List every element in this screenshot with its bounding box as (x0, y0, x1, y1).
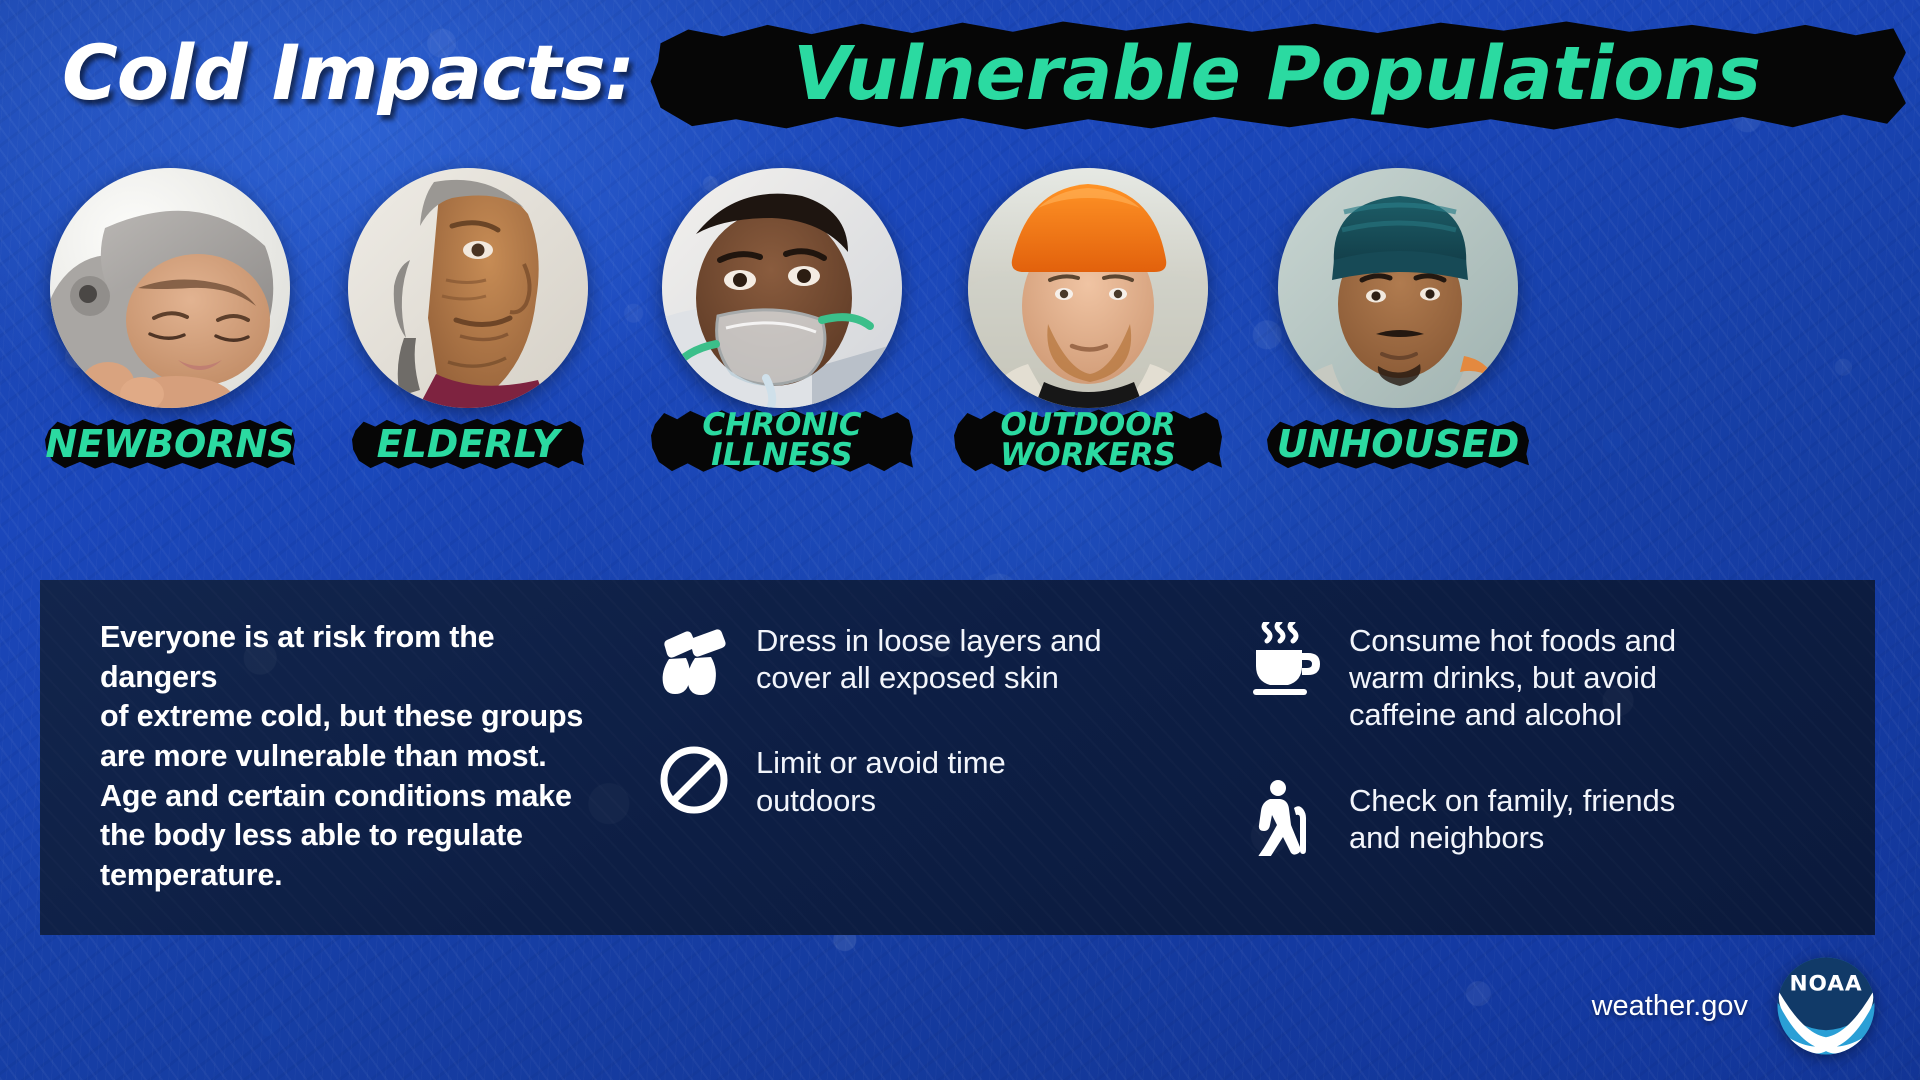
weather-gov-url[interactable]: weather.gov (1592, 990, 1748, 1023)
noaa-logo: NOAA (1774, 954, 1878, 1058)
infographic-poster: Cold Impacts: Vulnerable Populations (0, 0, 1920, 1080)
tip-text-hot-foods: Consume hot foods and warm drinks, but a… (1349, 620, 1676, 734)
population-item-outdoor-workers: OUTDOOR WORKERS (968, 168, 1208, 408)
page-title-accent: Vulnerable Populations (648, 18, 1906, 133)
label-chip-unhoused: UNHOUSED (1267, 416, 1529, 472)
portrait-elderly (348, 168, 588, 408)
safety-info-panel: Everyone is at risk from the dangers of … (40, 580, 1875, 935)
label-chip-newborns: NEWBORNS (45, 416, 295, 472)
footer: weather.gov NOAA (1592, 954, 1878, 1058)
title-banner: Vulnerable Populations (648, 18, 1906, 133)
tip-check-on-others: Check on family, friends and neighbors (1249, 780, 1845, 856)
chronic-illness-photo-illustration (662, 168, 902, 408)
population-label-chronic-illness: CHRONIC ILLNESS (702, 411, 861, 471)
label-chip-outdoor-workers: OUTDOOR WORKERS (954, 406, 1222, 476)
header: Cold Impacts: Vulnerable Populations (0, 0, 1920, 150)
population-label-elderly: ELDERLY (377, 426, 560, 462)
tip-limit-outdoors: Limit or avoid time outdoors (656, 742, 1205, 818)
hot-drink-cup-icon (1249, 622, 1325, 698)
tip-text-dress-layers: Dress in loose layers and cover all expo… (756, 620, 1102, 696)
portrait-outdoor-workers (968, 168, 1208, 408)
population-label-outdoor-workers: OUTDOOR WORKERS (1000, 411, 1176, 471)
population-label-unhoused: UNHOUSED (1277, 426, 1520, 462)
portrait-chronic-illness (662, 168, 902, 408)
mittens-icon (656, 620, 732, 696)
prohibition-icon (656, 742, 732, 818)
tips-column-left: Dress in loose layers and cover all expo… (610, 614, 1205, 907)
tip-dress-layers: Dress in loose layers and cover all expo… (656, 620, 1205, 696)
tip-hot-foods: Consume hot foods and warm drinks, but a… (1249, 620, 1845, 734)
portrait-unhoused (1278, 168, 1518, 408)
elderly-photo-illustration (348, 168, 588, 408)
population-item-unhoused: UNHOUSED (1278, 168, 1518, 408)
population-item-newborns: NEWBORNS (50, 168, 290, 408)
portrait-newborns (50, 168, 290, 408)
tips-column-right: Consume hot foods and warm drinks, but a… (1205, 614, 1845, 907)
population-label-newborns: NEWBORNS (45, 426, 294, 462)
newborn-photo-illustration (50, 168, 290, 408)
person-with-cane-icon (1249, 780, 1325, 856)
noaa-logo-text: NOAA (1790, 971, 1863, 996)
unhoused-photo-illustration (1278, 168, 1518, 408)
label-chip-chronic-illness: CHRONIC ILLNESS (651, 406, 913, 476)
page-title-main: Cold Impacts: (62, 28, 634, 117)
population-portrait-row: NEWBORNS (0, 168, 1920, 468)
intro-paragraph: Everyone is at risk from the dangers of … (70, 614, 610, 907)
population-item-elderly: ELDERLY (348, 168, 588, 408)
population-item-chronic-illness: CHRONIC ILLNESS (662, 168, 902, 408)
outdoor-worker-photo-illustration (968, 168, 1208, 408)
label-chip-elderly: ELDERLY (352, 416, 584, 472)
tip-text-limit-outdoors: Limit or avoid time outdoors (756, 742, 1006, 818)
tip-text-check-on-others: Check on family, friends and neighbors (1349, 780, 1675, 856)
